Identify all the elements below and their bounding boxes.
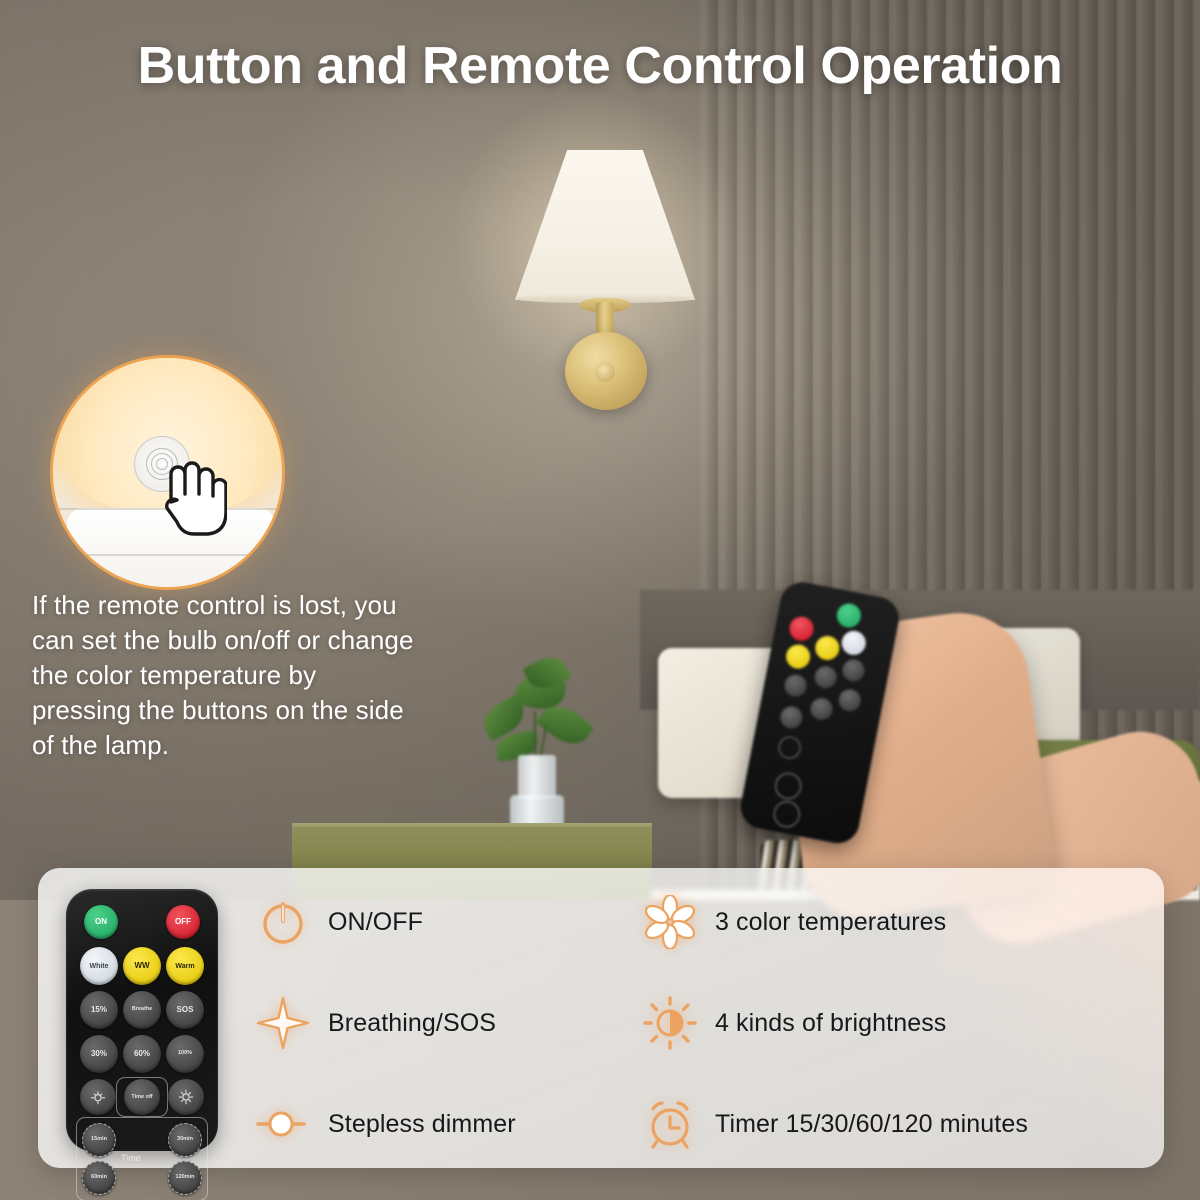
dim-down-icon bbox=[89, 1088, 107, 1106]
remote-button-timer-30min[interactable]: 30min bbox=[168, 1123, 202, 1157]
feature-on-off: ON/OFF bbox=[256, 895, 423, 949]
remote-button-timer-120 bbox=[772, 799, 802, 829]
remote-button-dim-up[interactable] bbox=[168, 1079, 204, 1115]
feature-label: 4 kinds of brightness bbox=[715, 1009, 946, 1038]
remote-button-white bbox=[840, 629, 868, 657]
remote-button-sos bbox=[783, 673, 809, 699]
sparkle-icon bbox=[256, 996, 310, 1050]
dim-up-icon bbox=[177, 1088, 195, 1106]
bulb-closeup-inset bbox=[50, 355, 285, 590]
page-title: Button and Remote Control Operation bbox=[0, 36, 1200, 96]
feature-label: Breathing/SOS bbox=[328, 1009, 496, 1038]
feature-label: 3 color temperatures bbox=[715, 908, 946, 937]
lamp-knob bbox=[595, 362, 615, 382]
remote-button-15-percent[interactable]: 15% bbox=[80, 991, 118, 1029]
remote-button-15 bbox=[841, 657, 867, 683]
remote-button-30 bbox=[837, 687, 863, 713]
remote-button-time-off[interactable]: Time off bbox=[124, 1079, 160, 1115]
remote-button-60-percent[interactable]: 60% bbox=[123, 1035, 161, 1073]
remote-button-off[interactable]: OFF bbox=[166, 905, 200, 939]
vase-neck bbox=[518, 755, 556, 799]
remote-button-timer-120min[interactable]: 120min bbox=[168, 1161, 202, 1195]
remote-button-on[interactable]: ON bbox=[84, 905, 118, 939]
feature-timer: Timer 15/30/60/120 minutes bbox=[643, 1097, 1028, 1151]
alarm-clock-icon bbox=[643, 1097, 697, 1151]
remote-button-dim bbox=[777, 735, 803, 761]
remote-button-sos[interactable]: SOS bbox=[166, 991, 204, 1029]
feature-label: Timer 15/30/60/120 minutes bbox=[715, 1110, 1028, 1139]
slider-icon bbox=[256, 1097, 310, 1151]
remote-button-ww[interactable]: WW bbox=[123, 947, 161, 985]
feature-brightness-levels: 4 kinds of brightness bbox=[643, 996, 946, 1050]
feature-label: ON/OFF bbox=[328, 908, 423, 937]
remote-button-30-percent[interactable]: 30% bbox=[80, 1035, 118, 1073]
feature-label: Stepless dimmer bbox=[328, 1110, 516, 1139]
half-sun-icon bbox=[643, 996, 697, 1050]
remote-button-warm bbox=[784, 643, 812, 671]
remote-button-timer-30 bbox=[773, 771, 803, 801]
remote-button-ww bbox=[813, 634, 841, 662]
remote-button-breathe[interactable]: Breathe bbox=[123, 991, 161, 1029]
remote-button-60 bbox=[809, 696, 835, 722]
lamp-shade bbox=[515, 150, 695, 300]
power-icon bbox=[256, 895, 310, 949]
remote-control-in-hand bbox=[737, 579, 902, 847]
remote-button-off bbox=[787, 615, 815, 643]
remote-button-warm[interactable]: Warm bbox=[166, 947, 204, 985]
hand-tap-cursor-icon bbox=[149, 450, 227, 538]
bulb-seam bbox=[53, 554, 285, 556]
flower-icon bbox=[643, 895, 697, 949]
remote-button-white[interactable]: White bbox=[80, 947, 118, 985]
hand-holding-remote bbox=[760, 600, 1200, 910]
remote-button-dim-down[interactable] bbox=[80, 1079, 116, 1115]
description-text: If the remote control is lost, you can s… bbox=[32, 588, 422, 763]
product-infographic: Button and Remote Control Operation If t… bbox=[0, 0, 1200, 1200]
remote-button-100-percent[interactable]: 100% bbox=[166, 1035, 204, 1073]
plant-vase bbox=[510, 755, 564, 827]
plant-stem bbox=[534, 711, 536, 761]
remote-button-on bbox=[835, 601, 863, 629]
feature-stepless-dimmer: Stepless dimmer bbox=[256, 1097, 516, 1151]
remote-button-timer-15min[interactable]: 15min bbox=[82, 1123, 116, 1157]
wall-sconce-lamp bbox=[505, 150, 705, 405]
remote-button-breathe bbox=[813, 664, 839, 690]
feature-color-temperatures: 3 color temperatures bbox=[643, 895, 946, 949]
remote-control-diagram: ON OFF White WW Warm 15% Breathe SOS 30%… bbox=[66, 889, 218, 1151]
timer-group-label: Time bbox=[121, 1153, 141, 1163]
feature-breathing-sos: Breathing/SOS bbox=[256, 996, 496, 1050]
remote-button-100 bbox=[778, 705, 804, 731]
remote-button-timer-60min[interactable]: 60min bbox=[82, 1161, 116, 1195]
